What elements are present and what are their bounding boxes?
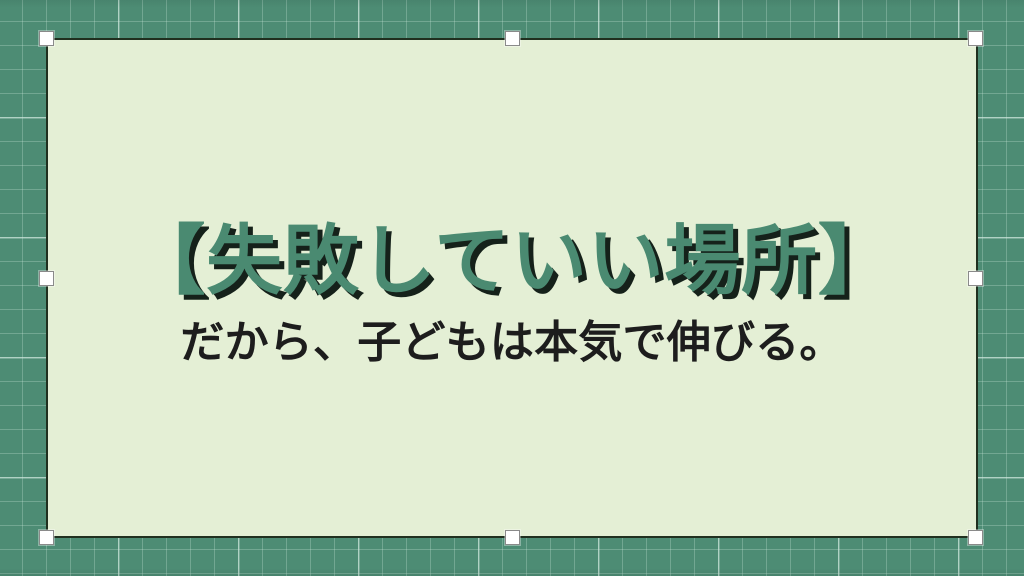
selection-handle-middle-left[interactable]	[39, 271, 54, 286]
selection-handle-top-center[interactable]	[505, 31, 520, 46]
subheadline-text[interactable]: だから、子どもは本気で伸びる。	[48, 317, 976, 370]
selection-handle-bottom-right[interactable]	[968, 530, 983, 545]
selection-handle-top-right[interactable]	[968, 31, 983, 46]
selection-handle-bottom-center[interactable]	[505, 530, 520, 545]
slide-canvas: 【失敗していい場所】 だから、子どもは本気で伸びる。	[0, 0, 1024, 576]
panel-content-area: 【失敗していい場所】 だから、子どもは本気で伸びる。	[48, 40, 976, 536]
selected-content-panel[interactable]: 【失敗していい場所】 だから、子どもは本気で伸びる。	[46, 38, 978, 538]
selection-handle-bottom-left[interactable]	[39, 530, 54, 545]
selection-handle-middle-right[interactable]	[968, 271, 983, 286]
headline-text[interactable]: 【失敗していい場所】	[48, 218, 976, 303]
text-block[interactable]: 【失敗していい場所】 だから、子どもは本気で伸びる。	[48, 218, 976, 370]
selection-handle-top-left[interactable]	[39, 31, 54, 46]
